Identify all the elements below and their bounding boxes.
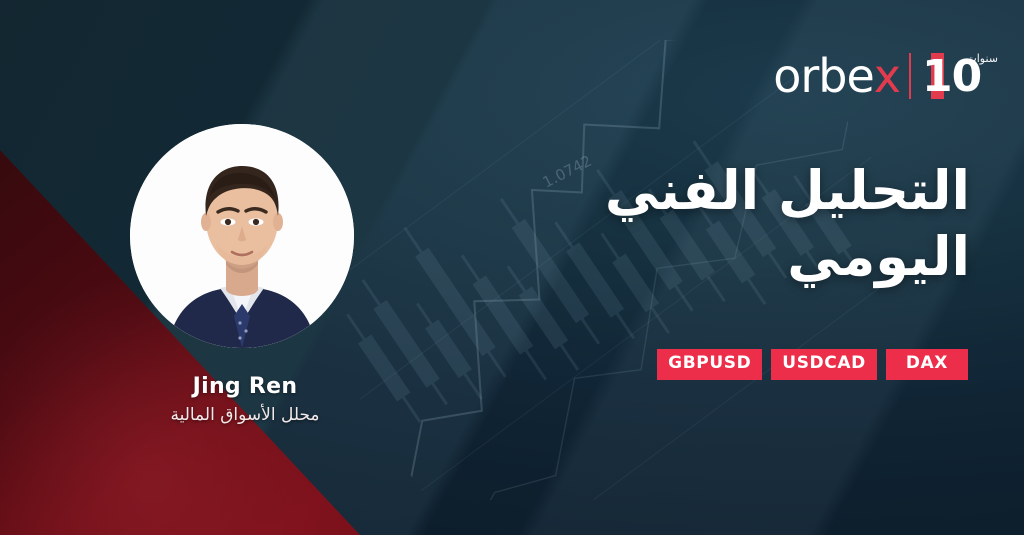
orbex-wordmark-x: x xyxy=(874,49,900,103)
page-title: التحليل الفني اليومي xyxy=(410,158,970,290)
avatar xyxy=(130,124,354,348)
presenter-name: Jing Ren xyxy=(60,374,430,400)
promo-banner: 1.0742 xyxy=(0,0,1024,535)
orbex-logo[interactable]: orbex 10 سنوات xyxy=(773,48,996,104)
presenter-block: Jing Ren محلل الأسواق المالية xyxy=(60,374,430,426)
instrument-badges: GBPUSD USDCAD DAX xyxy=(657,349,968,380)
orbex-wordmark: orbex xyxy=(773,53,900,99)
badge-usdcad[interactable]: USDCAD xyxy=(771,349,877,380)
anniversary-badge: 10 سنوات xyxy=(922,51,996,101)
badge-gbpusd[interactable]: GBPUSD xyxy=(657,349,762,380)
presenter-role: محلل الأسواق المالية xyxy=(60,404,430,426)
logo-divider xyxy=(909,53,911,99)
orbex-wordmark-text: orbe xyxy=(773,49,874,103)
page-title-line-1: التحليل الفني xyxy=(410,158,970,224)
anniversary-label-arabic: سنوات xyxy=(966,52,998,65)
page-title-line-2: اليومي xyxy=(410,224,970,290)
badge-dax[interactable]: DAX xyxy=(886,349,968,380)
